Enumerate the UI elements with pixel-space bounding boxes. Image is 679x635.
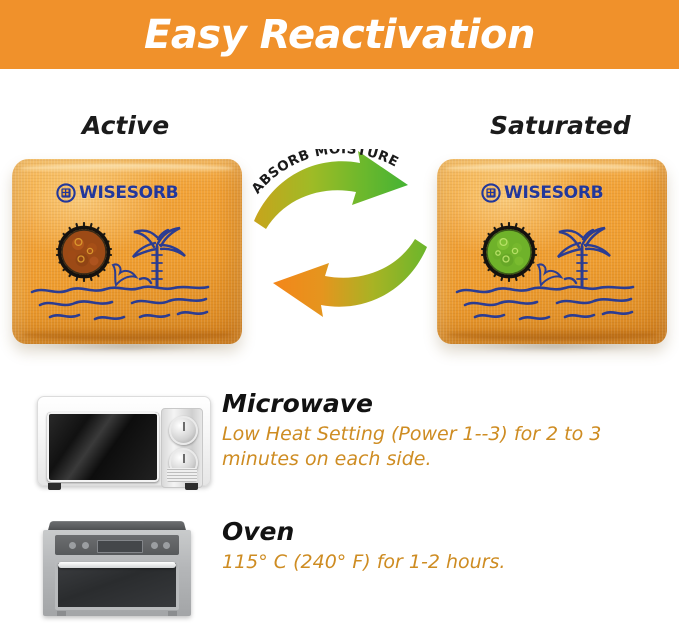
- oven-title: Oven: [222, 518, 662, 546]
- oven-control-panel: [55, 535, 179, 555]
- desiccant-pack-active: WISESORB: [12, 159, 242, 344]
- brand-logo: WISESORB: [56, 183, 178, 203]
- brand-name: WISESORB: [504, 183, 603, 203]
- pack-seam-top: [445, 164, 659, 173]
- oven-description: 115° C (240° F) for 1-2 hours.: [222, 550, 662, 576]
- label-active: Active: [82, 111, 169, 140]
- wisesorb-badge-icon: [481, 183, 501, 203]
- header-banner: Easy Reactivation: [0, 0, 679, 69]
- microwave-foot: [48, 483, 61, 490]
- oven-button: [69, 542, 76, 549]
- page-title: Easy Reactivation: [144, 15, 535, 55]
- oven-button: [151, 542, 158, 549]
- oven-body: [43, 530, 191, 616]
- microwave-control-panel: [161, 408, 203, 488]
- oven-handle: [58, 562, 176, 568]
- pack-seam-bottom: [447, 329, 657, 340]
- pack-body: WISESORB: [437, 159, 667, 344]
- brand-name: WISESORB: [79, 183, 178, 203]
- microwave-title: Microwave: [222, 390, 662, 418]
- indicator-active: [54, 222, 114, 282]
- desiccant-pack-saturated: WISESORB: [437, 159, 667, 344]
- comparison-section: Active Saturated: [0, 69, 679, 369]
- oven-button: [82, 542, 89, 549]
- microwave-power-dial: [169, 416, 198, 445]
- wisesorb-badge-icon: [56, 183, 76, 203]
- label-saturated: Saturated: [490, 111, 631, 140]
- pack-seam-bottom: [22, 329, 232, 340]
- indicator-saturated: [479, 222, 539, 282]
- microwave-body: [37, 396, 211, 486]
- oven-button: [163, 542, 170, 549]
- oven-display: [97, 540, 143, 553]
- oven-foot: [168, 611, 177, 616]
- microwave-foot: [185, 483, 198, 490]
- microwave-door: [47, 412, 159, 482]
- microwave-description: Low Heat Setting (Power 1--3) for 2 to 3…: [222, 422, 662, 473]
- microwave-icon: [37, 390, 209, 490]
- pack-body: WISESORB: [12, 159, 242, 344]
- oven-icon: [37, 518, 197, 618]
- instruction-oven: Oven 115° C (240° F) for 1-2 hours.: [0, 518, 679, 628]
- absorb-moisture-text: ABSORB MOISTURE: [249, 149, 401, 197]
- absorb-moisture-caption: ABSORB MOISTURE: [248, 149, 433, 209]
- oven-text-block: Oven 115° C (240° F) for 1-2 hours.: [222, 518, 662, 575]
- microwave-vent: [167, 468, 197, 482]
- brand-logo: WISESORB: [481, 183, 603, 203]
- instruction-microwave: Microwave Low Heat Setting (Power 1--3) …: [0, 390, 679, 500]
- pack-seam-top: [20, 164, 234, 173]
- oven-foot: [57, 611, 66, 616]
- microwave-text-block: Microwave Low Heat Setting (Power 1--3) …: [222, 390, 662, 473]
- arrow-release-left: [273, 239, 427, 317]
- svg-text:ABSORB MOISTURE: ABSORB MOISTURE: [249, 149, 401, 197]
